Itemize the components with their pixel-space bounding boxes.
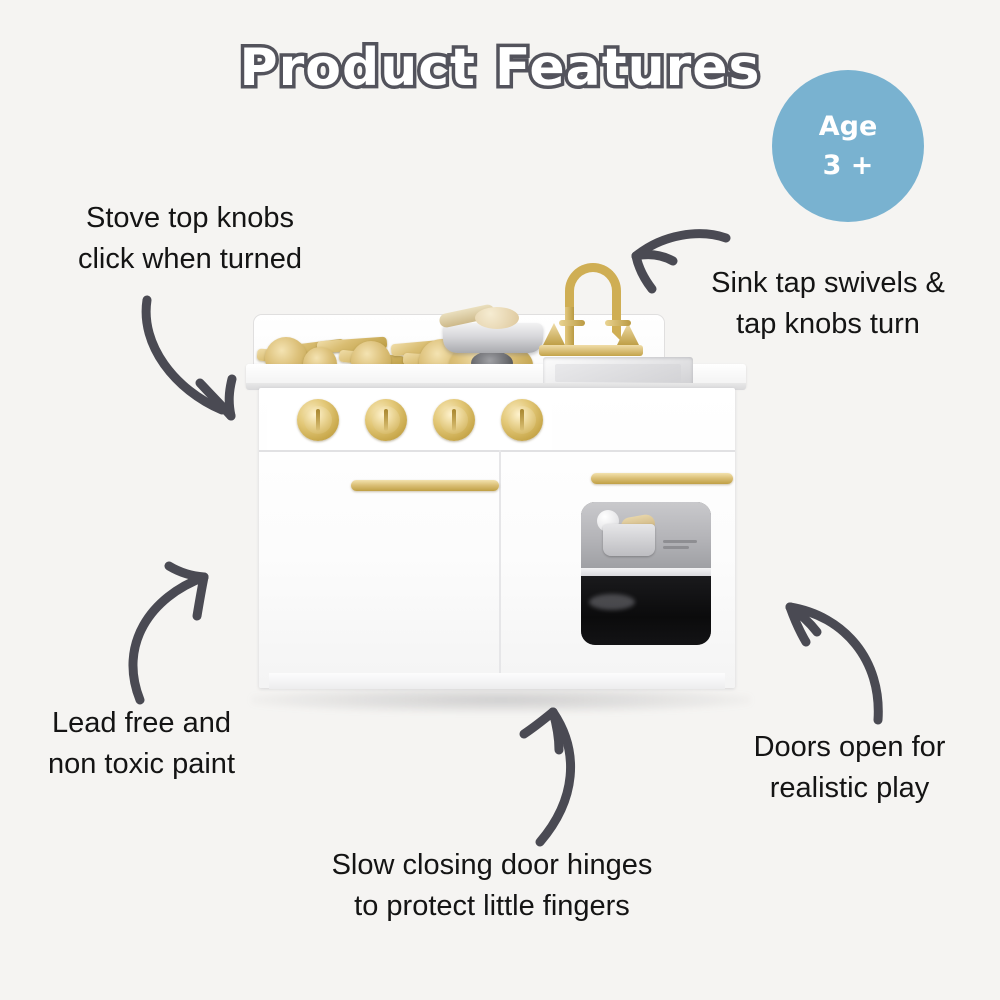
faucet-column: [565, 307, 574, 345]
tap-lever-left[interactable]: [559, 320, 585, 326]
door-divider: [499, 450, 501, 688]
arrow-door-hinges: [524, 712, 571, 842]
arrow-stove-knobs: [146, 300, 232, 416]
knob-slot: [520, 409, 524, 431]
oven-glass-glint: [589, 594, 635, 610]
callout-door-hinges: Slow closing door hinges to protect litt…: [282, 845, 702, 927]
knob-slot: [452, 409, 456, 431]
infographic-canvas: Product Features Age 3 + Stove top knobs…: [0, 0, 1000, 1000]
cooktop-food-egg: [475, 307, 519, 329]
age-badge: Age 3 +: [772, 70, 924, 222]
callout-lead-free-paint: Lead free and non toxic paint: [14, 703, 269, 785]
cabinet-handle-left[interactable]: [351, 480, 499, 491]
oven-window: [581, 502, 711, 645]
knob-slot: [316, 409, 320, 431]
stove-knob-4[interactable]: [501, 399, 543, 441]
cabinet-plinth: [269, 673, 725, 689]
sink-basin-inner: [555, 364, 681, 382]
stove-knob-3[interactable]: [433, 399, 475, 441]
stove-knob-2[interactable]: [365, 399, 407, 441]
arrow-lead-free-paint: [133, 566, 204, 700]
knob-slot: [384, 409, 388, 431]
oven-utensil: [663, 546, 689, 549]
tap-knob-left[interactable]: [543, 323, 565, 345]
product-shadow: [251, 687, 751, 713]
oven-shelf: [581, 568, 711, 576]
oven-utensil: [663, 540, 697, 543]
callout-stove-knobs: Stove top knobs click when turned: [40, 198, 340, 280]
arrow-doors-open: [790, 607, 878, 720]
oven-pot: [603, 524, 655, 556]
oven-lower-compartment: [581, 576, 711, 645]
stove-knob-1[interactable]: [297, 399, 339, 441]
age-badge-line2: 3 +: [823, 146, 874, 185]
tap-lever-right[interactable]: [605, 320, 631, 326]
oven-handle-right[interactable]: [591, 473, 733, 484]
faucet-base-plate: [539, 345, 643, 356]
callout-doors-open: Doors open for realistic play: [722, 727, 977, 809]
age-badge-line1: Age: [819, 107, 878, 146]
door-top-seam: [259, 450, 735, 452]
product-illustration-play-kitchen: [243, 295, 761, 715]
